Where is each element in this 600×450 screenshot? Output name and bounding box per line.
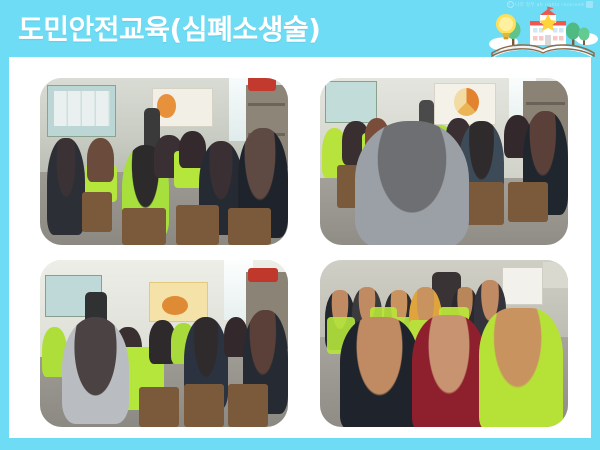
photo-bottom-right[interactable] xyxy=(320,260,568,427)
photo-top-left-image xyxy=(40,78,288,245)
photo-top-left[interactable] xyxy=(40,78,288,245)
page-title: 도민안전교육(심폐소생술) xyxy=(18,14,320,46)
slide-header: C나라 정부 all rights reserved 도민안전교육(심폐소생술) xyxy=(0,0,600,57)
slide-body xyxy=(9,57,591,438)
presentation-slide: C나라 정부 all rights reserved 도민안전교육(심폐소생술) xyxy=(0,0,600,450)
photo-grid xyxy=(9,57,591,438)
photo-top-right[interactable] xyxy=(320,78,568,245)
slide-footer-band xyxy=(0,438,600,450)
photo-bottom-right-image xyxy=(320,260,568,427)
photo-bottom-left-image xyxy=(40,260,288,427)
photo-top-right-image xyxy=(320,78,568,245)
open-book-school-emblem-icon xyxy=(488,6,598,57)
photo-bottom-left[interactable] xyxy=(40,260,288,427)
